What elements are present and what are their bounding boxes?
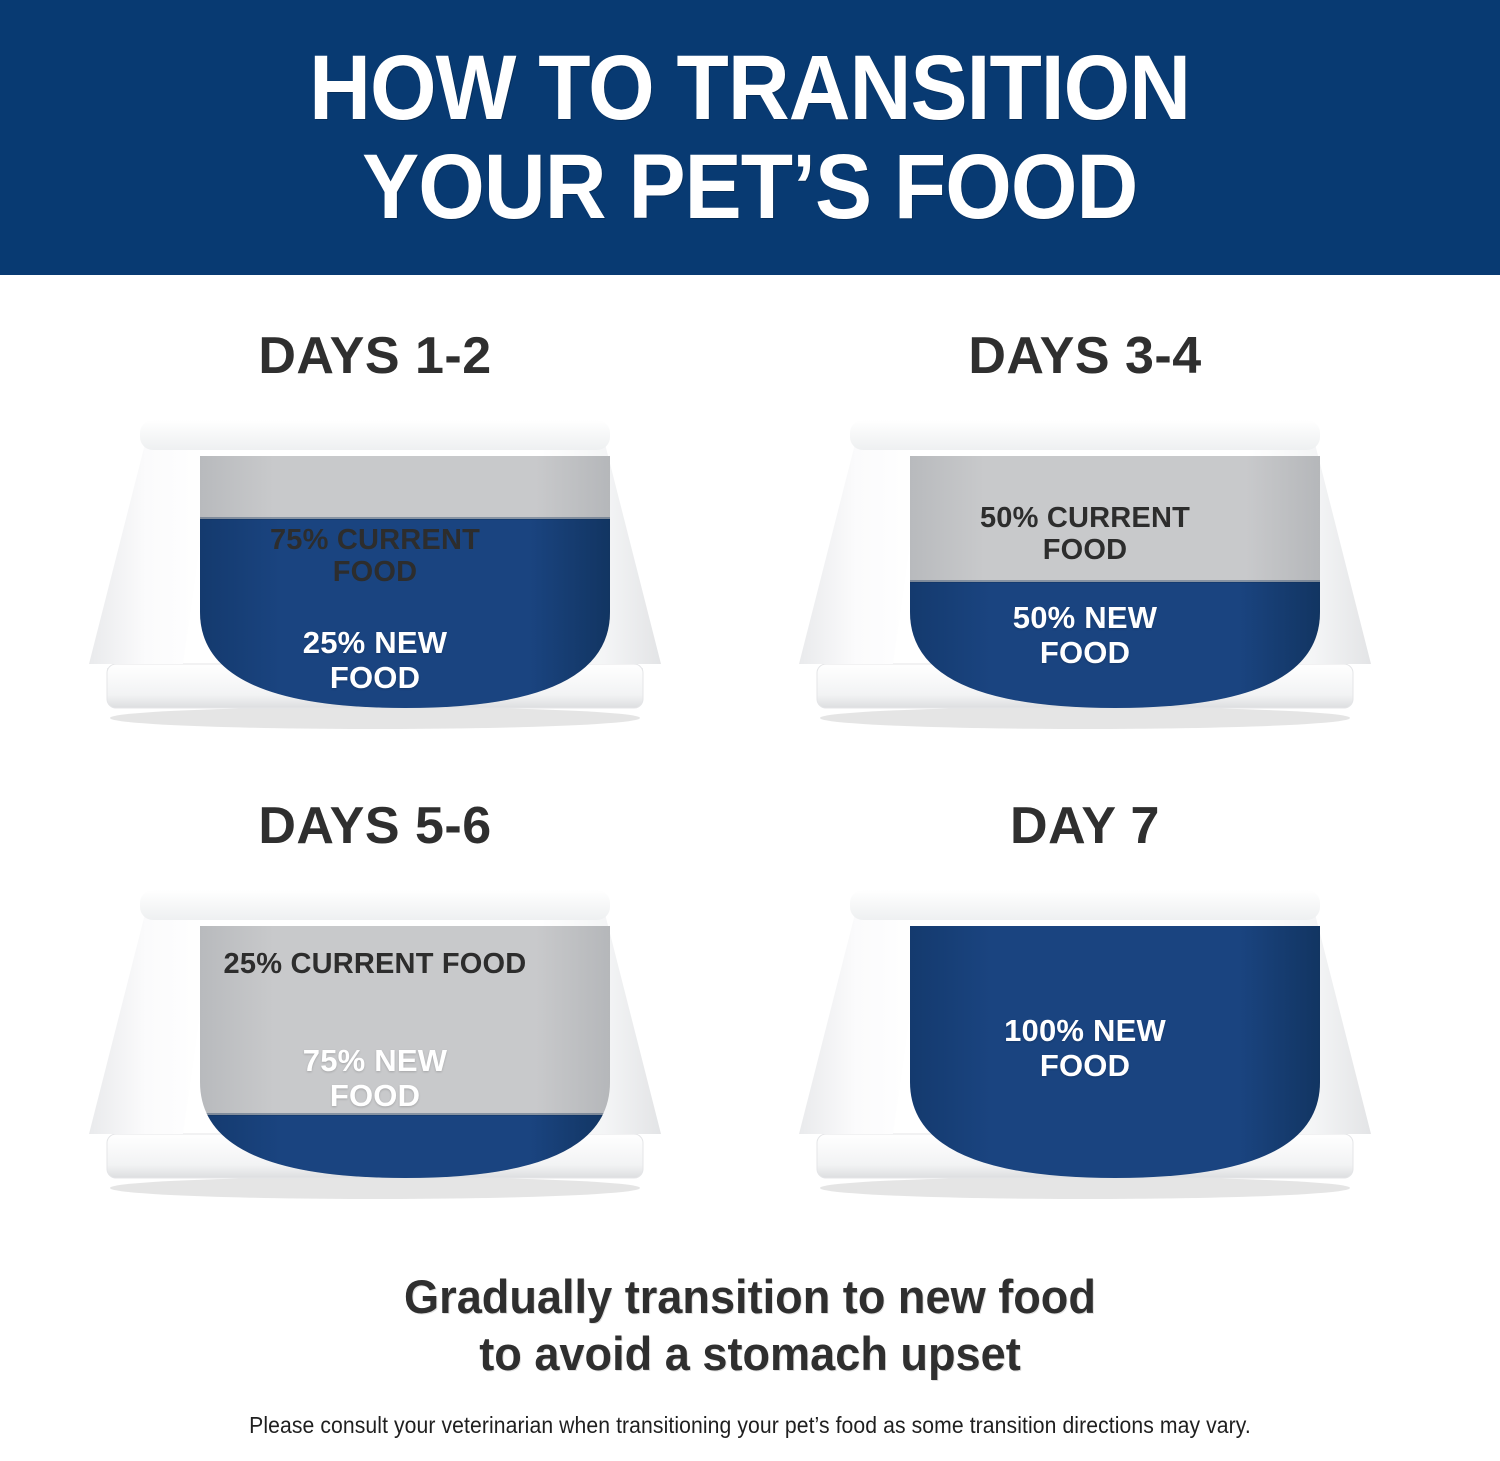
bowl-rim	[850, 890, 1320, 920]
transition-step-1: DAYS 1-2	[0, 330, 750, 820]
page-title-line-2: YOUR PET’S FOOD	[362, 142, 1137, 232]
transition-step-2: DAYS 3-4	[710, 330, 1460, 820]
transition-steps-grid: DAYS 1-2	[0, 275, 1500, 1260]
bowl-left-wall	[89, 894, 215, 1134]
pet-bowl-illustration: 25% CURRENT FOOD 75% NEW FOOD	[55, 876, 695, 1206]
pet-bowl-illustration: 100% NEW FOOD	[765, 876, 1405, 1206]
bowl-left-wall	[799, 424, 925, 664]
bowl-cavity	[200, 456, 610, 708]
page-title-line-1: HOW TO TRANSITION	[310, 43, 1191, 133]
bowl-svg	[765, 406, 1405, 736]
infographic-page: HOW TO TRANSITION YOUR PET’S FOOD DAYS 1…	[0, 0, 1500, 1461]
step-title: DAYS 5-6	[258, 800, 491, 852]
bowl-shadow	[820, 1177, 1350, 1199]
step-title: DAYS 3-4	[968, 330, 1201, 382]
bowl-left-wall	[89, 424, 215, 664]
bowl-svg	[55, 876, 695, 1206]
bowl-shadow	[110, 1177, 640, 1199]
transition-step-3: DAYS 5-6	[0, 800, 750, 1290]
footer-message: Gradually transition to new food to avoi…	[30, 1268, 1470, 1383]
pet-bowl-illustration: 75% CURRENT FOOD 25% NEW FOOD	[55, 406, 695, 736]
footer-message-line-2: to avoid a stomach upset	[30, 1325, 1470, 1382]
step-title: DAYS 1-2	[258, 330, 491, 382]
bowl-rim	[850, 420, 1320, 450]
bowl-shadow	[110, 707, 640, 729]
bowl-svg	[55, 406, 695, 736]
new-food-fill	[200, 519, 610, 708]
bowl-left-wall	[799, 894, 925, 1134]
bowl-svg	[765, 876, 1405, 1206]
bowl-cavity	[200, 926, 610, 1178]
transition-step-4: DAY 7	[710, 800, 1460, 1290]
disclaimer-text: Please consult your veterinarian when tr…	[60, 1412, 1440, 1439]
bowl-rim	[140, 420, 610, 450]
bowl-rim	[140, 890, 610, 920]
bowl-cavity	[910, 926, 1320, 1178]
footer-message-line-1: Gradually transition to new food	[30, 1268, 1470, 1325]
bowl-shadow	[820, 707, 1350, 729]
step-title: DAY 7	[1010, 800, 1160, 852]
new-food-fill	[910, 926, 1320, 1178]
pet-bowl-illustration: 50% CURRENT FOOD 50% NEW FOOD	[765, 406, 1405, 736]
bowl-cavity	[910, 456, 1320, 708]
header-banner: HOW TO TRANSITION YOUR PET’S FOOD	[0, 0, 1500, 275]
